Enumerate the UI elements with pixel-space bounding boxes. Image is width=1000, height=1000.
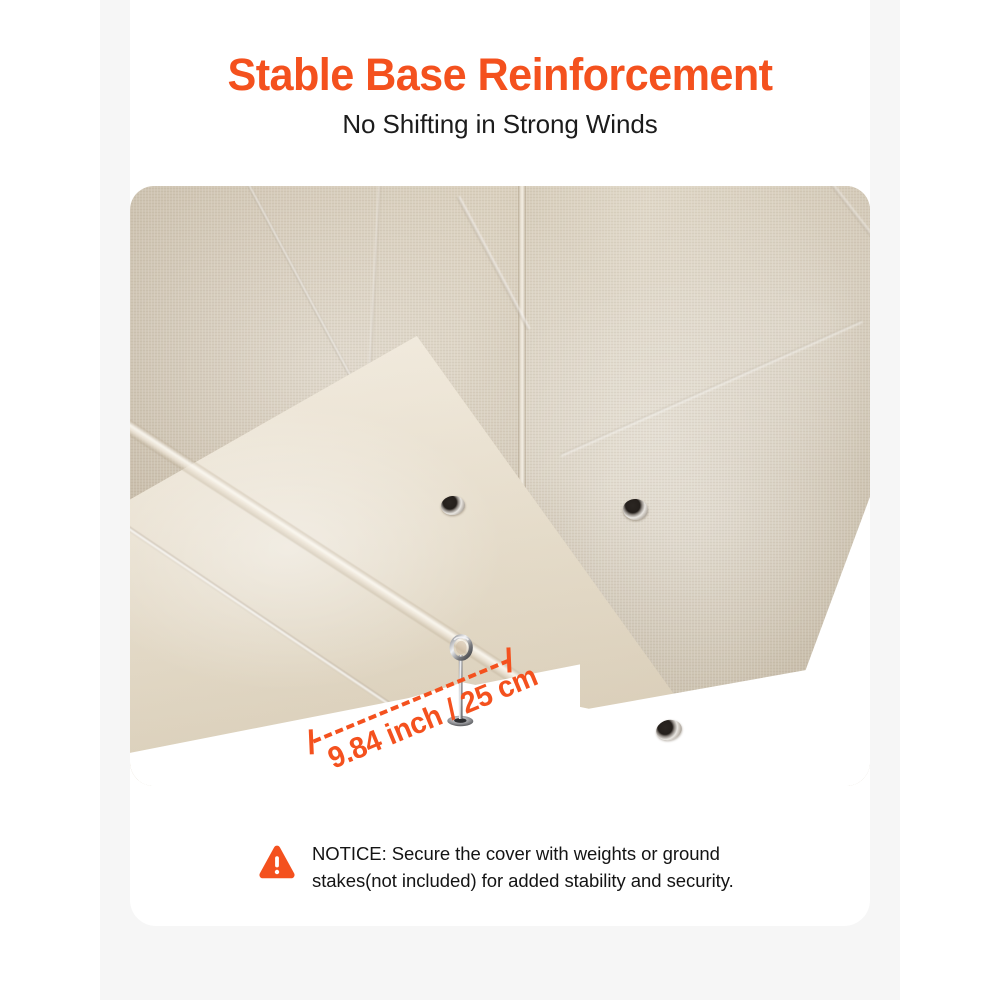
notice-line-2: stakes(not included) for added stability…: [312, 870, 734, 891]
notice-text: NOTICE: Secure the cover with weights or…: [312, 840, 742, 894]
warning-triangle-icon: [258, 844, 296, 880]
notice-line-1: NOTICE: Secure the cover with weights or…: [312, 843, 720, 864]
page-subtitle: No Shifting in Strong Winds: [130, 109, 870, 139]
header-block: Stable Base Reinforcement No Shifting in…: [130, 50, 870, 139]
page-title: Stable Base Reinforcement: [145, 50, 855, 100]
notice-row: NOTICE: Secure the cover with weights or…: [130, 840, 870, 894]
product-feature-screenshot: Stable Base Reinforcement No Shifting in…: [0, 0, 1000, 1000]
